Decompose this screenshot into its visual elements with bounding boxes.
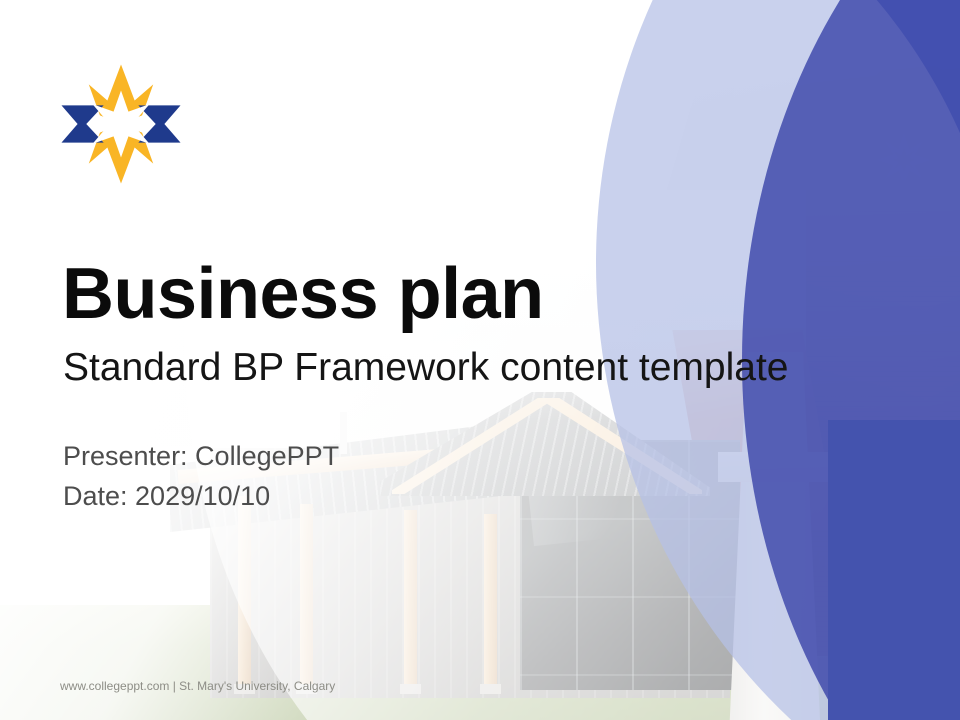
blue-edge-block bbox=[828, 420, 960, 720]
slide-title: Business plan bbox=[62, 258, 544, 330]
presentation-title-slide: Business plan Standard BP Framework cont… bbox=[0, 0, 960, 720]
slide-subtitle: Standard BP Framework content template bbox=[63, 348, 788, 387]
date-line: Date: 2029/10/10 bbox=[63, 481, 339, 512]
slide-footer: www.collegeppt.com | St. Mary's Universi… bbox=[60, 679, 335, 693]
university-logo bbox=[57, 62, 185, 186]
presenter-line: Presenter: CollegePPT bbox=[63, 441, 339, 472]
slide-meta-block: Presenter: CollegePPT Date: 2029/10/10 bbox=[63, 441, 339, 521]
